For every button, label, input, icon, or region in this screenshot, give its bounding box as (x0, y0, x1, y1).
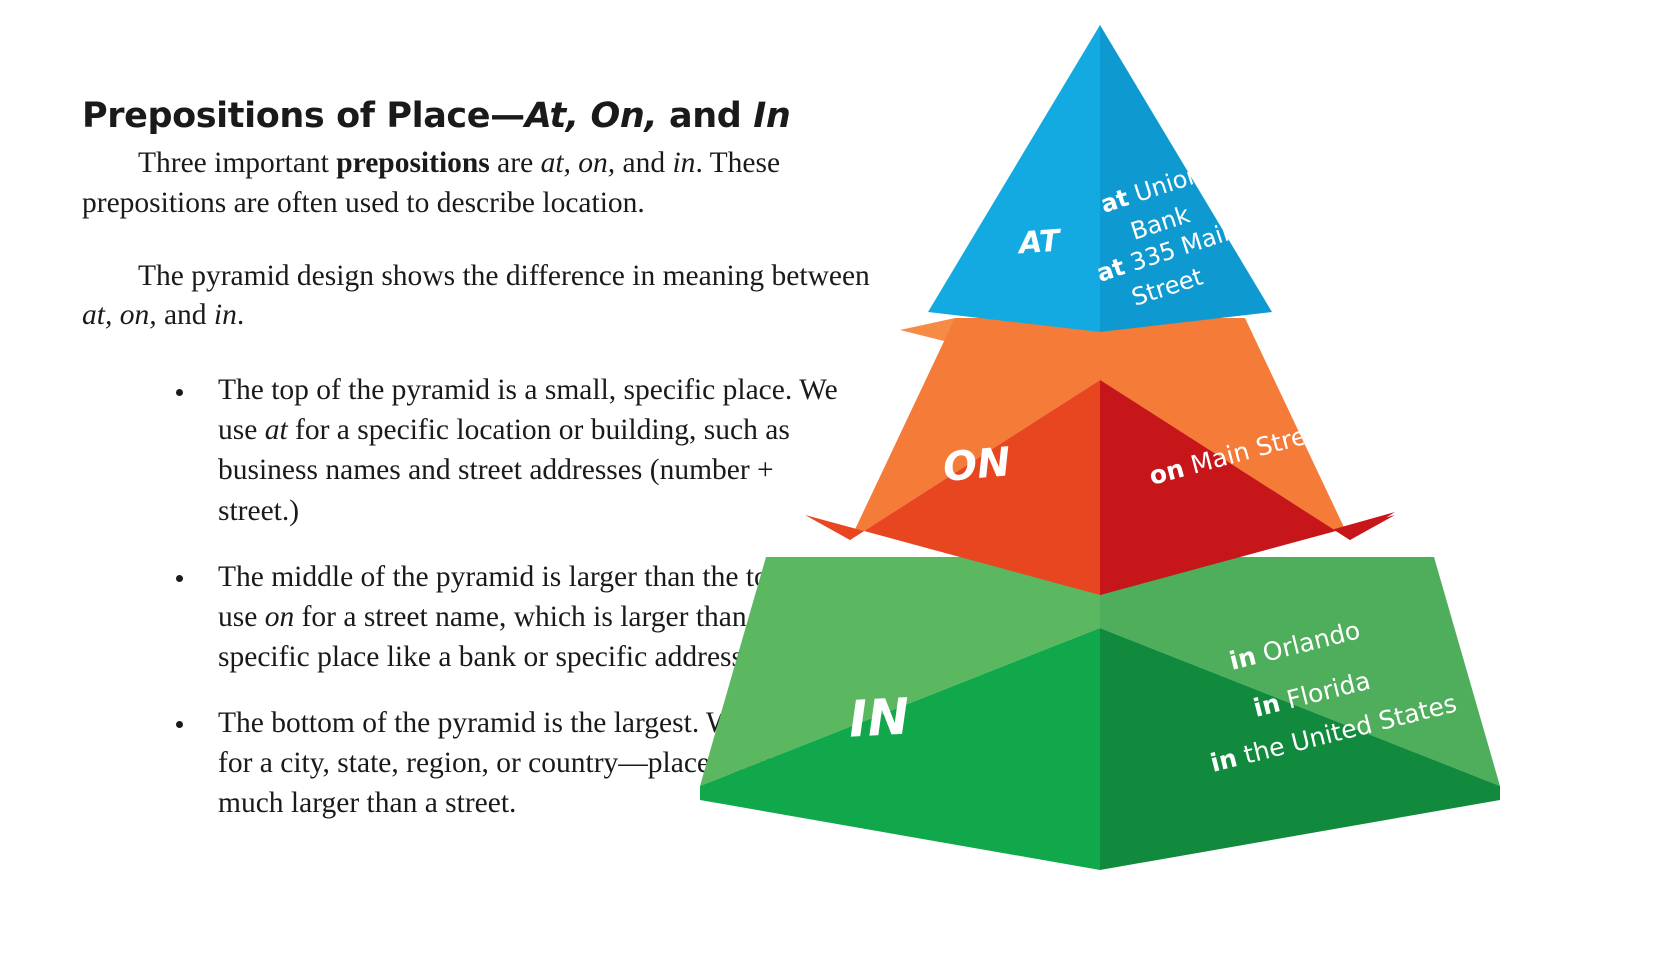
at-tier-right-face (1100, 25, 1272, 332)
on-tier-label: ON (941, 439, 1012, 491)
para1-seg-c: and (615, 147, 672, 179)
page-title: Prepositions of Place—At, On, and In (82, 96, 882, 136)
bullet-text-in: The bottom of the pyramid is the largest… (218, 703, 858, 823)
bullet3-italic: in (799, 707, 822, 739)
at-example-1-line2: Bank (1127, 200, 1193, 245)
para1-bold-prepositions: prepositions (336, 147, 490, 179)
para1-italic-1: at, on, (541, 147, 616, 179)
bullet1-italic: at (265, 414, 288, 446)
bullet-dot-icon (176, 575, 183, 582)
intro-paragraph: Three important prepositions are at, on,… (82, 144, 882, 224)
para2-seg-a: The pyramid design shows the difference … (138, 260, 870, 292)
pyramid-tier-at: AT at Union Bank at 335 Main Street (928, 25, 1272, 332)
bullet-dot-icon (176, 389, 183, 396)
bullet3-seg-a: The bottom of the pyramid is the largest… (218, 707, 799, 739)
bullet-dot-icon (176, 721, 183, 728)
in-tier-right-face (1100, 628, 1500, 870)
on-tier-top-right-slope (1100, 318, 1350, 540)
on-tier-right-face (1100, 380, 1395, 595)
in-example-2: in Florida (1250, 666, 1373, 723)
at-tier-left-face (928, 25, 1100, 332)
on-tier-top-left-slope (850, 318, 1100, 540)
at-example-2-line1: at 335 Main (1093, 216, 1241, 288)
bullet-text-at: The top of the pyramid is a small, speci… (218, 370, 858, 530)
list-item: The bottom of the pyramid is the largest… (176, 703, 858, 823)
at-example-2-line2: Street (1128, 263, 1206, 312)
bullet3-seg-b: for a city, state, region, or country—pl… (218, 747, 817, 819)
in-tier-examples: in Orlando in Florida in the United Stat… (1207, 615, 1459, 777)
on-tier-right-face-body (1100, 380, 1395, 595)
para2-seg-c: . (237, 299, 244, 331)
bullet2-italic: on (265, 601, 295, 633)
para2-italic-2: in (214, 299, 237, 331)
at-tier-examples: at Union Bank at 335 Main Street (1093, 160, 1241, 312)
bullet1-seg-b: for a specific location or building, suc… (218, 414, 790, 526)
list-item: The top of the pyramid is a small, speci… (176, 370, 858, 530)
in-example-1: in Orlando (1226, 615, 1363, 675)
at-tier-label: AT (1016, 223, 1064, 261)
page-root: Prepositions of Place—At, On, and In Thr… (0, 0, 1655, 954)
pyramid-explanation-paragraph: The pyramid design shows the difference … (82, 257, 882, 337)
para1-italic-2: in (672, 147, 695, 179)
title-italic-at-on: At, On, (525, 96, 658, 136)
para2-italic-1: at, on, (82, 299, 157, 331)
title-lead: Prepositions of Place— (82, 96, 525, 136)
title-connector: and (657, 96, 753, 136)
pyramid-tier-on: ON on Main Street (805, 318, 1395, 595)
bullet-text-on: The middle of the pyramid is larger than… (218, 557, 858, 677)
on-tier-examples: on Main Street (1146, 414, 1334, 490)
title-italic-in: In (753, 96, 790, 136)
para2-seg-b: and (157, 299, 214, 331)
bullet2-seg-b: for a street name, which is larger than … (218, 601, 767, 673)
in-tier-top-right-surface (1100, 557, 1500, 786)
at-example-1-line1: at Union (1097, 160, 1205, 219)
explanation-bullet-list: The top of the pyramid is a small, speci… (176, 370, 882, 823)
list-item: The middle of the pyramid is larger than… (176, 557, 858, 677)
para1-seg-a: Three important (138, 147, 336, 179)
para1-seg-b: are (490, 147, 541, 179)
on-example-1: on Main Street (1146, 414, 1334, 490)
on-tier-top-left-surface (900, 318, 1100, 380)
in-example-3: in the United States (1207, 689, 1459, 778)
article-text-column: Prepositions of Place—At, On, and In Thr… (82, 96, 882, 849)
